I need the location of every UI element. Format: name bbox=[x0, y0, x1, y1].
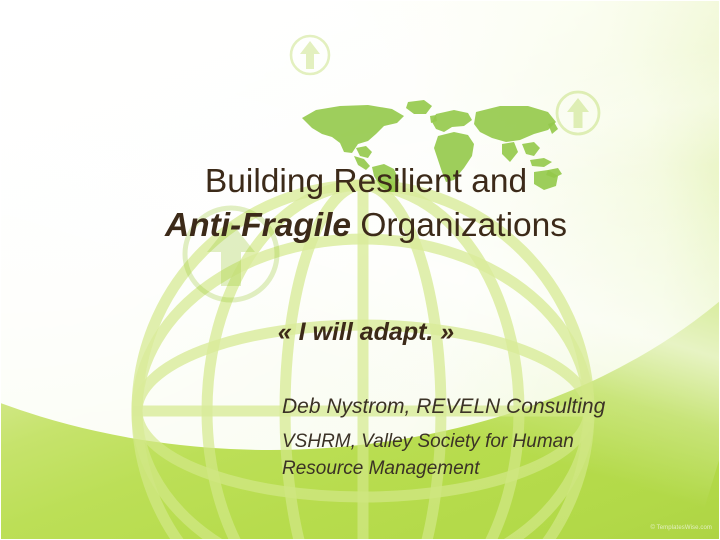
byline-presenter: Deb Nystrom, REVELN Consulting bbox=[282, 392, 702, 422]
title-emphasis: Anti-Fragile bbox=[165, 207, 351, 244]
byline-organization-line-1: VSHRM, Valley Society for Human bbox=[282, 428, 702, 455]
byline-organization-line-2: Resource Management bbox=[282, 455, 702, 482]
slide-canvas: Building Resilient and Anti-Fragile Orga… bbox=[0, 0, 720, 540]
title-line-2-rest: Organizations bbox=[351, 207, 567, 244]
title-line-2: Anti-Fragile Organizations bbox=[30, 204, 702, 248]
title-line-1: Building Resilient and bbox=[205, 163, 527, 200]
slide-text-layer: Building Resilient and Anti-Fragile Orga… bbox=[0, 0, 720, 540]
slide-title: Building Resilient and Anti-Fragile Orga… bbox=[30, 160, 702, 248]
template-watermark: © TemplatesWise.com bbox=[650, 525, 712, 531]
slide-quote: « I will adapt. » bbox=[30, 316, 702, 348]
byline-organization: VSHRM, Valley Society for Human Resource… bbox=[282, 428, 702, 482]
slide-byline: Deb Nystrom, REVELN Consulting VSHRM, Va… bbox=[282, 392, 702, 482]
